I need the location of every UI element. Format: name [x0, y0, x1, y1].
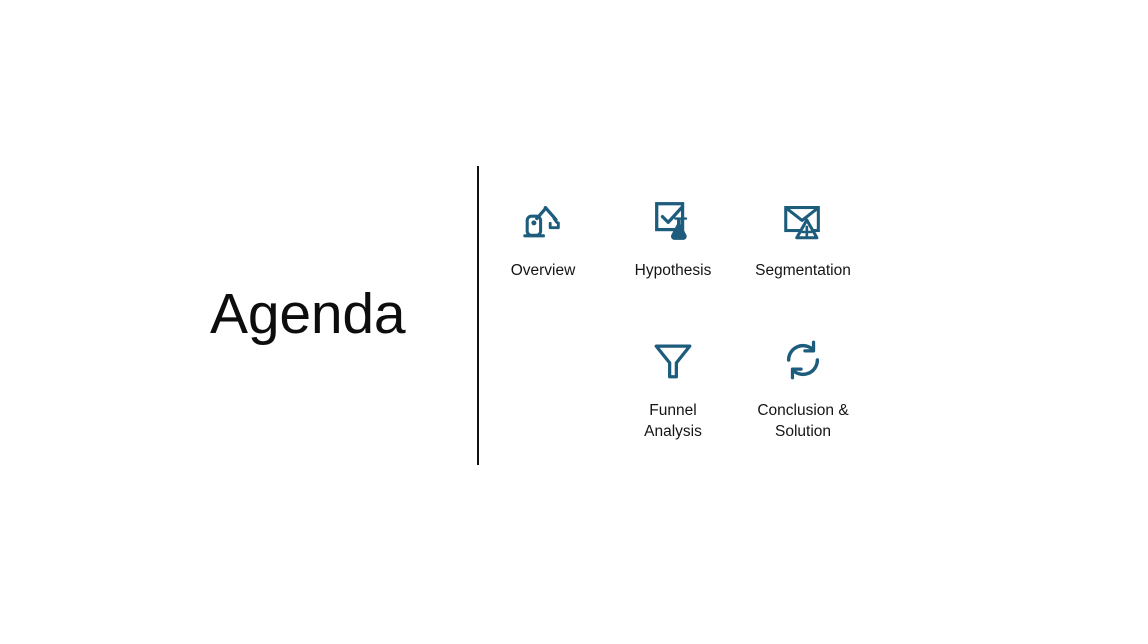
agenda-item-segmentation[interactable]: Segmentation: [738, 194, 868, 281]
agenda-item-label: Funnel Analysis: [644, 400, 702, 442]
agenda-item-overview[interactable]: Overview: [478, 194, 608, 281]
agenda-item-hypothesis[interactable]: Hypothesis: [608, 194, 738, 281]
title-area: Agenda: [0, 166, 478, 464]
funnel-icon: [647, 334, 699, 386]
checkbox-flask-icon: [647, 194, 699, 246]
agenda-row-2: Funnel Analysis Conclusion & Solution: [608, 334, 868, 442]
agenda-item-label: Conclusion & Solution: [757, 400, 848, 442]
agenda-item-label: Overview: [511, 260, 576, 281]
refresh-cycle-icon: [777, 334, 829, 386]
envelope-pyramid-icon: [777, 194, 829, 246]
agenda-item-conclusion-solution[interactable]: Conclusion & Solution: [738, 334, 868, 442]
agenda-items-area: Overview Hypothesis: [478, 166, 1148, 486]
agenda-slide: Agenda Overview: [0, 0, 1148, 644]
agenda-item-funnel-analysis[interactable]: Funnel Analysis: [608, 334, 738, 442]
page-title: Agenda: [0, 285, 405, 345]
agenda-item-label: Hypothesis: [635, 260, 712, 281]
robotic-arm-icon: [517, 194, 569, 246]
agenda-item-label: Segmentation: [755, 260, 851, 281]
agenda-row-1: Overview Hypothesis: [478, 194, 868, 281]
